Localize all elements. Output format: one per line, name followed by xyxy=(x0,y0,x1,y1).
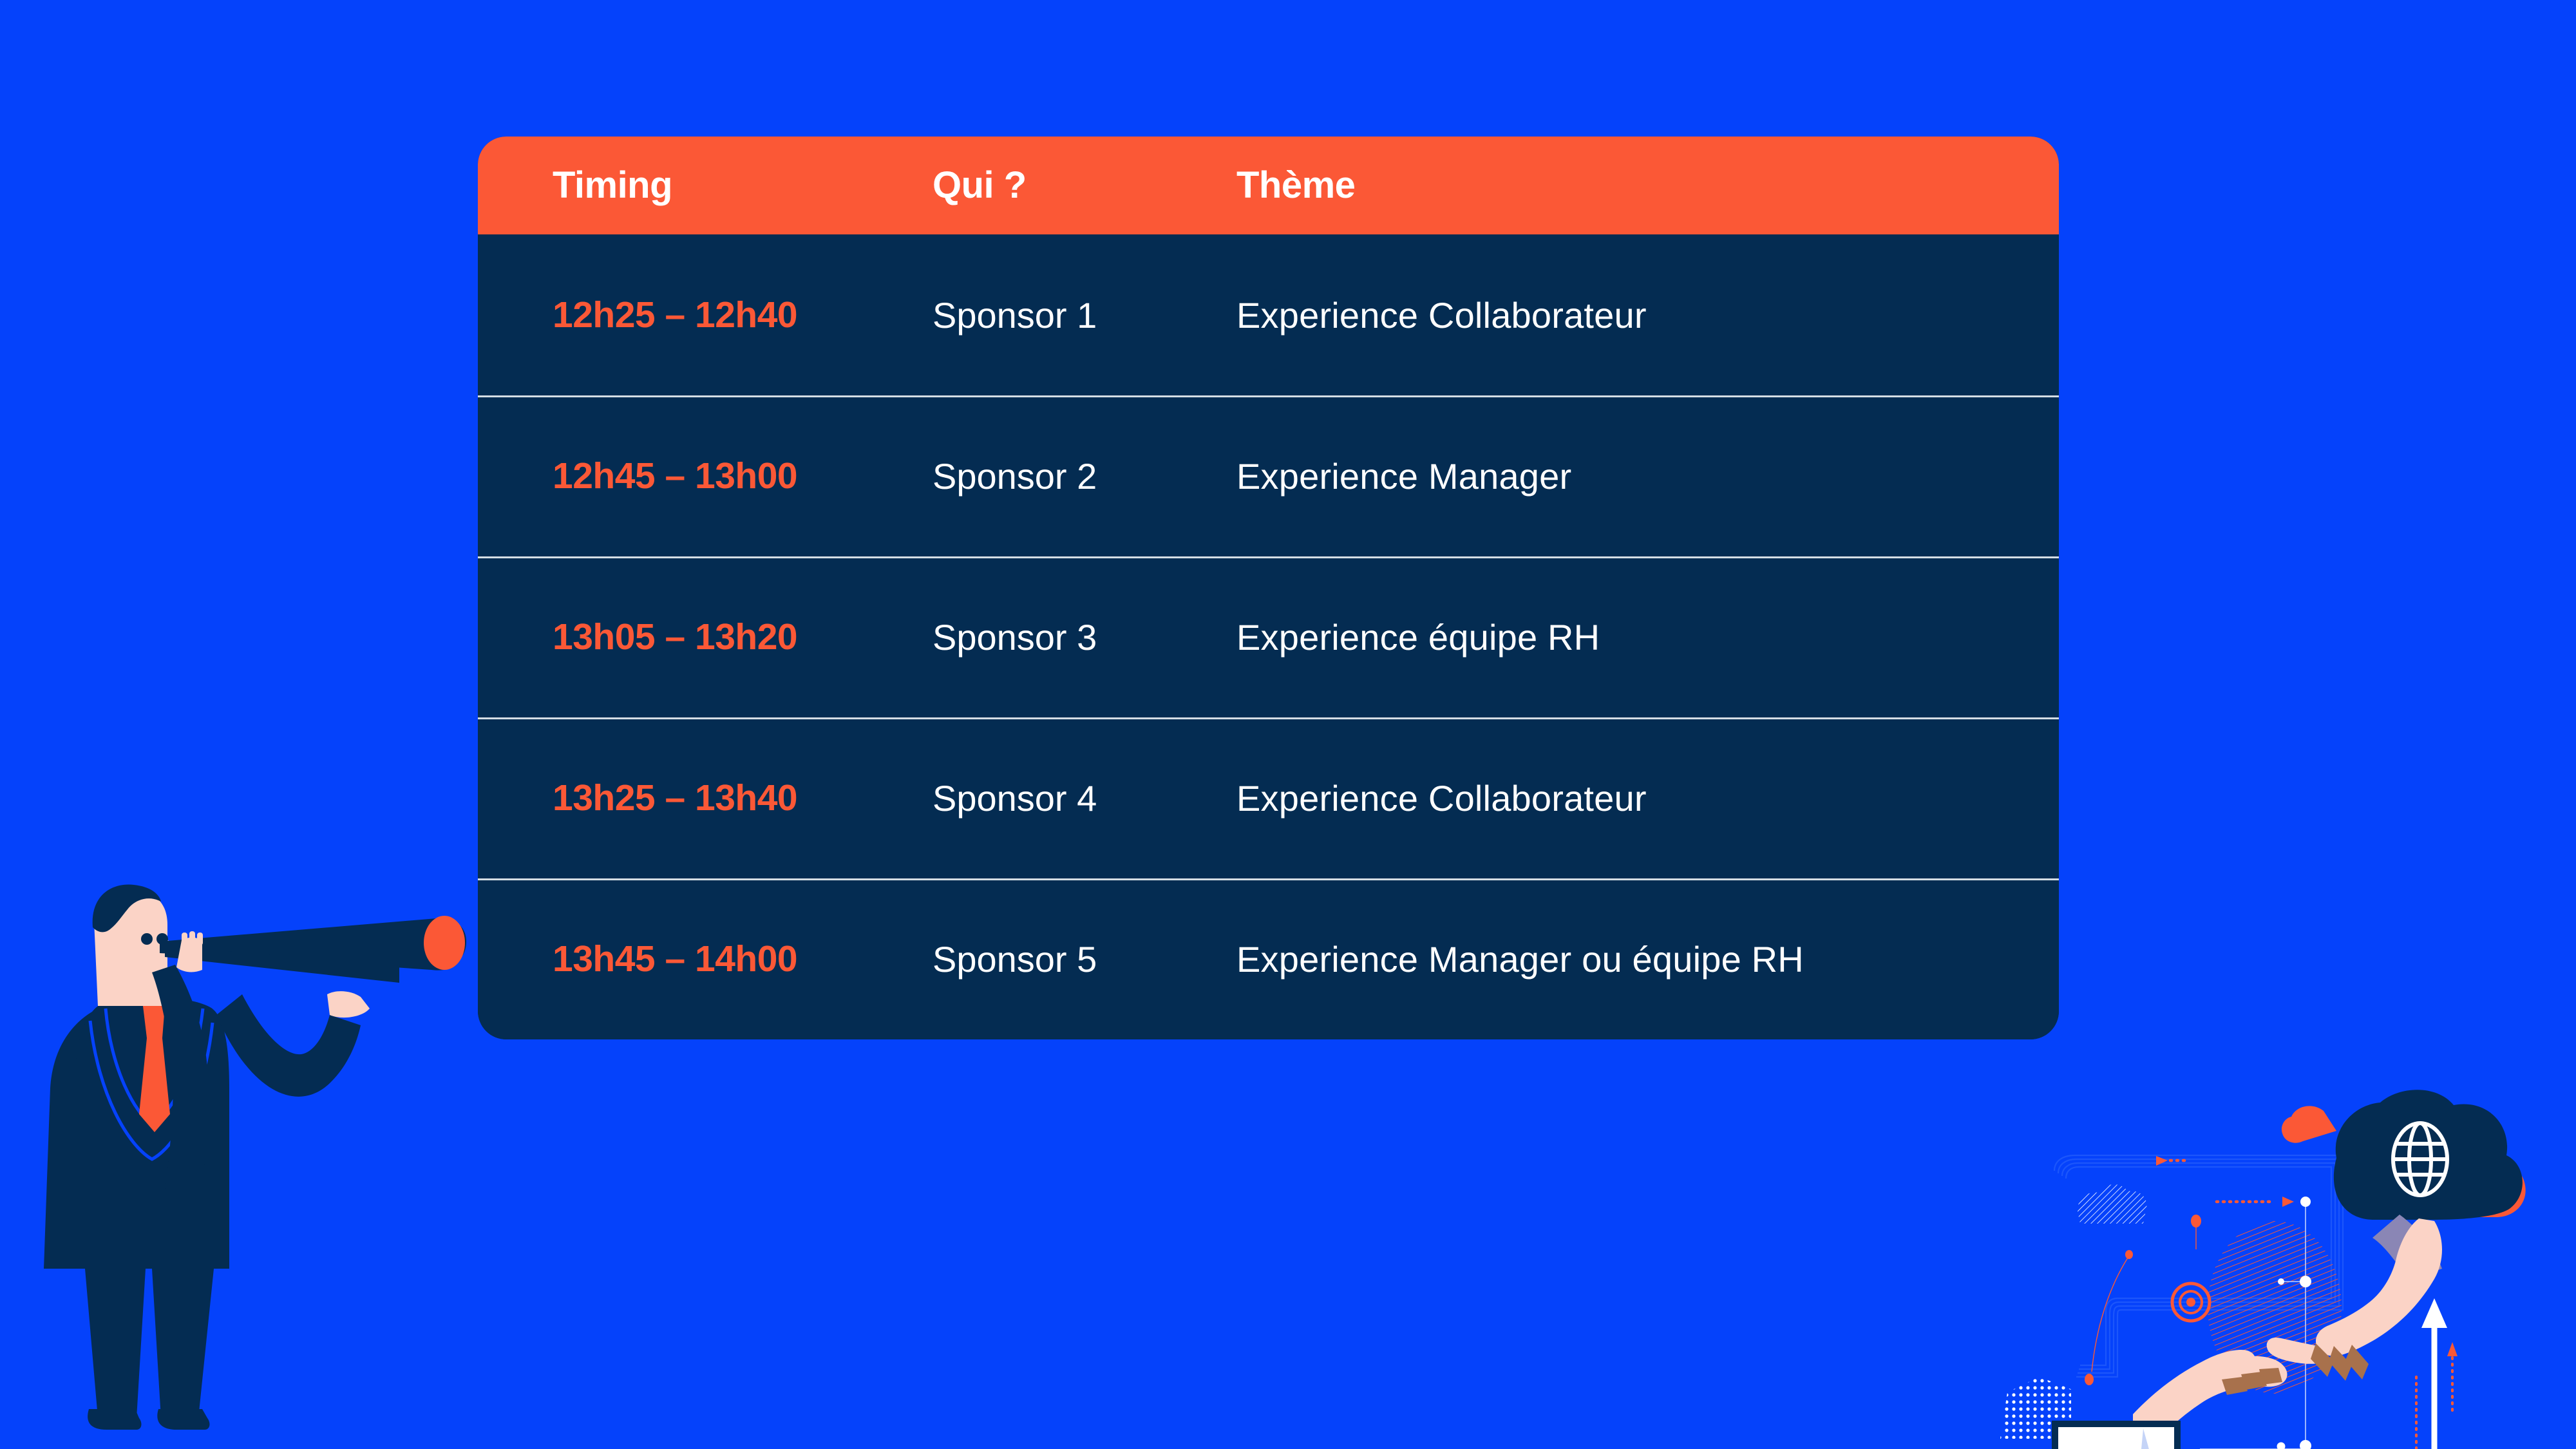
table-row: 12h25 – 12h40 Sponsor 1 Experience Colla… xyxy=(478,234,2059,395)
cell-timing: 13h25 – 13h40 xyxy=(553,777,933,819)
schedule-table: Timing Qui ? Thème 12h25 – 12h40 Sponsor… xyxy=(478,137,2059,1039)
cell-theme: Experience Manager ou équipe RH xyxy=(1236,938,2059,980)
cell-theme: Experience Manager xyxy=(1236,455,2059,497)
table-row: 12h45 – 13h00 Sponsor 2 Experience Manag… xyxy=(478,395,2059,556)
cell-who: Sponsor 1 xyxy=(933,294,1236,336)
cell-timing: 13h45 – 14h00 xyxy=(553,938,933,980)
cell-who: Sponsor 5 xyxy=(933,938,1236,980)
cloud-computing-illustration xyxy=(1984,1088,2576,1449)
cell-who: Sponsor 2 xyxy=(933,455,1236,497)
businessman-telescope-illustration xyxy=(39,857,489,1436)
cell-theme: Experience Collaborateur xyxy=(1236,777,2059,819)
cell-theme: Experience équipe RH xyxy=(1236,616,2059,658)
schedule-table-body: 12h25 – 12h40 Sponsor 1 Experience Colla… xyxy=(478,234,2059,1039)
cell-timing: 12h25 – 12h40 xyxy=(553,294,933,336)
cell-timing: 13h05 – 13h20 xyxy=(553,616,933,658)
table-row: 13h45 – 14h00 Sponsor 5 Experience Manag… xyxy=(478,878,2059,1039)
table-row: 13h05 – 13h20 Sponsor 3 Experience équip… xyxy=(478,556,2059,717)
cell-timing: 12h45 – 13h00 xyxy=(553,455,933,497)
column-header-who: Qui ? xyxy=(933,167,1236,204)
cell-who: Sponsor 3 xyxy=(933,616,1236,658)
schedule-table-header-row: Timing Qui ? Thème xyxy=(478,137,2059,234)
cell-who: Sponsor 4 xyxy=(933,777,1236,819)
column-header-timing: Timing xyxy=(553,167,933,204)
slide-canvas: Timing Qui ? Thème 12h25 – 12h40 Sponsor… xyxy=(0,0,2576,1449)
cell-theme: Experience Collaborateur xyxy=(1236,294,2059,336)
table-row: 13h25 – 13h40 Sponsor 4 Experience Colla… xyxy=(478,717,2059,878)
column-header-theme: Thème xyxy=(1236,167,2059,204)
